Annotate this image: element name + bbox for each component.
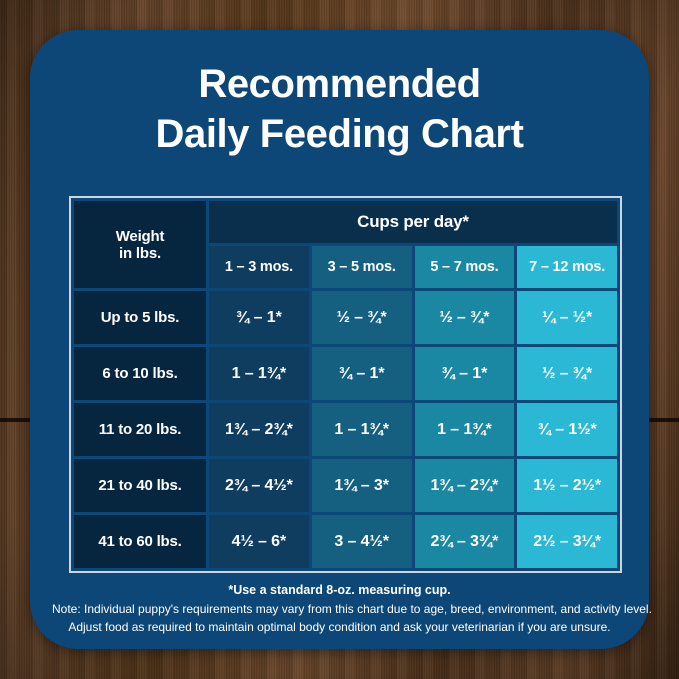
table-cell: 1¾ – 3*	[312, 459, 412, 512]
footnote-note: Note: Individual puppy's requirements ma…	[52, 600, 627, 619]
table-cell: ½ – ¾*	[517, 347, 617, 400]
table-row: 6 to 10 lbs. 1 – 1¾* ¾ – 1* ¾ – 1* ½ – ¾…	[74, 347, 617, 400]
table-cell: ¾ – 1*	[209, 291, 309, 344]
table-row: 41 to 60 lbs. 4½ – 6* 3 – 4½* 2¾ – 3¾* 2…	[74, 515, 617, 568]
table-cell: ½ – ¾*	[312, 291, 412, 344]
page-title: Recommended Daily Feeding Chart	[30, 59, 649, 160]
table-cell: 1¾ – 2¾*	[209, 403, 309, 456]
row-weight-label: 11 to 20 lbs.	[74, 403, 206, 456]
age-header-5-7-mos: 5 – 7 mos.	[415, 246, 515, 288]
table-cell: ¾ – 1*	[312, 347, 412, 400]
row-weight-label: 21 to 40 lbs.	[74, 459, 206, 512]
table-row: Up to 5 lbs. ¾ – 1* ½ – ¾* ½ – ¾* ¼ – ½*	[74, 291, 617, 344]
table-cell: 1½ – 2½*	[517, 459, 617, 512]
table-cell: ¾ – 1*	[415, 347, 515, 400]
table-cell: 2¾ – 4½*	[209, 459, 309, 512]
feeding-chart-card: Recommended Daily Feeding Chart Weight i…	[30, 30, 649, 649]
table-cell: ½ – ¾*	[415, 291, 515, 344]
feeding-chart-table: Weight in lbs. Cups per day* 1 – 3 mos. …	[69, 196, 622, 573]
age-header-3-5-mos: 3 – 5 mos.	[312, 246, 412, 288]
footnote-measuring-cup: *Use a standard 8-oz. measuring cup.	[52, 581, 627, 600]
cups-per-day-header: Cups per day*	[209, 201, 617, 243]
age-header-1-3-mos: 1 – 3 mos.	[209, 246, 309, 288]
table-cell: 1 – 1¾*	[415, 403, 515, 456]
table-cell: 1¾ – 2¾*	[415, 459, 515, 512]
weight-column-header: Weight in lbs.	[74, 201, 206, 288]
table-cell: 4½ – 6*	[209, 515, 309, 568]
table-cell: 3 – 4½*	[312, 515, 412, 568]
table-cell: 1 – 1¾*	[312, 403, 412, 456]
table-cell: 1 – 1¾*	[209, 347, 309, 400]
weight-header-line-2: in lbs.	[119, 245, 161, 262]
table-cell: 2½ – 3¼*	[517, 515, 617, 568]
age-header-7-12-mos: 7 – 12 mos.	[517, 246, 617, 288]
table-cell: ¼ – ½*	[517, 291, 617, 344]
page-title-line-2: Daily Feeding Chart	[30, 109, 649, 159]
table-row: 11 to 20 lbs. 1¾ – 2¾* 1 – 1¾* 1 – 1¾* ¾…	[74, 403, 617, 456]
table-row: 21 to 40 lbs. 2¾ – 4½* 1¾ – 3* 1¾ – 2¾* …	[74, 459, 617, 512]
weight-header-line-1: Weight	[116, 228, 165, 245]
footnotes: *Use a standard 8-oz. measuring cup. Not…	[52, 581, 627, 637]
page-title-line-1: Recommended	[30, 59, 649, 109]
row-weight-label: 41 to 60 lbs.	[74, 515, 206, 568]
feeding-table-grid: Weight in lbs. Cups per day* 1 – 3 mos. …	[71, 198, 620, 571]
footnote-adjust: Adjust food as required to maintain opti…	[52, 618, 627, 637]
row-weight-label: Up to 5 lbs.	[74, 291, 206, 344]
table-cell: ¾ – 1½*	[517, 403, 617, 456]
row-weight-label: 6 to 10 lbs.	[74, 347, 206, 400]
table-header-row-group: Weight in lbs. Cups per day*	[74, 201, 617, 243]
table-cell: 2¾ – 3¾*	[415, 515, 515, 568]
